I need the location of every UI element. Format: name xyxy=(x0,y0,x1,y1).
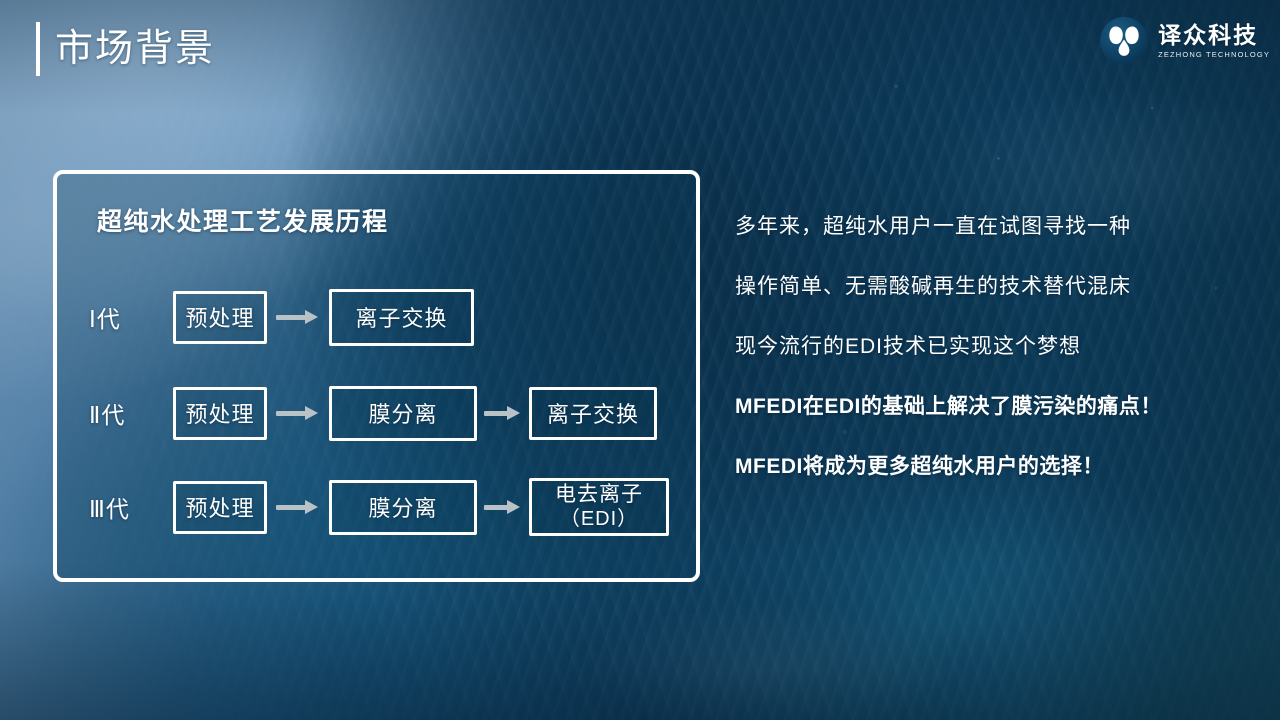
generation-label-1: Ⅰ代 xyxy=(89,300,173,334)
summary-line-3: 现今流行的EDI技术已实现这个梦想 xyxy=(735,336,1255,357)
generation-label-3: Ⅲ代 xyxy=(89,490,173,524)
title-accent-bar xyxy=(36,22,40,76)
summary-line-1: 多年来，超纯水用户一直在试图寻找一种 xyxy=(735,216,1255,237)
logo-text: 译众科技 ZEZHONG TECHNOLOGY xyxy=(1158,23,1270,59)
process-node-edi-3: 电去离子 （EDI） xyxy=(529,478,669,536)
flow-arrow-icon xyxy=(276,500,320,514)
process-node-pretreatment-1: 预处理 xyxy=(173,291,267,344)
flow-row-gen1: Ⅰ代 预处理 离子交换 xyxy=(89,286,474,348)
logo-name-cn: 译众科技 xyxy=(1158,23,1258,49)
company-logo: 译众科技 ZEZHONG TECHNOLOGY xyxy=(1099,16,1270,66)
process-node-ion-exchange-2: 离子交换 xyxy=(529,387,657,440)
slide-canvas: 市场背景 译众科技 ZEZHONG TECHNOLOGY xyxy=(0,0,1280,720)
process-node-edi-line1: 电去离子 xyxy=(555,483,643,508)
process-node-pretreatment-2: 预处理 xyxy=(173,387,267,440)
flow-arrow-icon xyxy=(484,406,522,420)
summary-line-2: 操作简单、无需酸碱再生的技术替代混床 xyxy=(735,276,1255,297)
page-title: 市场背景 xyxy=(55,22,215,76)
summary-line-4: MFEDI在EDI的基础上解决了膜污染的痛点！ xyxy=(735,396,1255,417)
generation-label-2: Ⅱ代 xyxy=(89,396,173,430)
summary-paragraph: 多年来，超纯水用户一直在试图寻找一种 操作简单、无需酸碱再生的技术替代混床 现今… xyxy=(735,216,1255,477)
flow-arrow-icon xyxy=(484,500,522,514)
process-node-edi-line2: （EDI） xyxy=(560,508,638,532)
card-heading: 超纯水处理工艺发展历程 xyxy=(97,202,389,238)
logo-name-en: ZEZHONG TECHNOLOGY xyxy=(1158,51,1270,59)
flow-row-gen3: Ⅲ代 预处理 膜分离 电去离子 （EDI） xyxy=(89,476,669,538)
water-drop-logo-icon xyxy=(1099,16,1149,66)
process-node-ion-exchange-1: 离子交换 xyxy=(329,289,474,346)
flow-arrow-icon xyxy=(276,310,320,324)
process-node-membrane-2: 膜分离 xyxy=(329,386,477,441)
process-node-pretreatment-3: 预处理 xyxy=(173,481,267,534)
process-history-card: 超纯水处理工艺发展历程 Ⅰ代 预处理 离子交换 Ⅱ代 预处理 膜分离 离子交换 xyxy=(53,170,700,582)
process-node-membrane-3: 膜分离 xyxy=(329,480,477,535)
flow-row-gen2: Ⅱ代 预处理 膜分离 离子交换 xyxy=(89,382,657,444)
summary-line-5: MFEDI将成为更多超纯水用户的选择！ xyxy=(735,456,1255,477)
flow-arrow-icon xyxy=(276,406,320,420)
